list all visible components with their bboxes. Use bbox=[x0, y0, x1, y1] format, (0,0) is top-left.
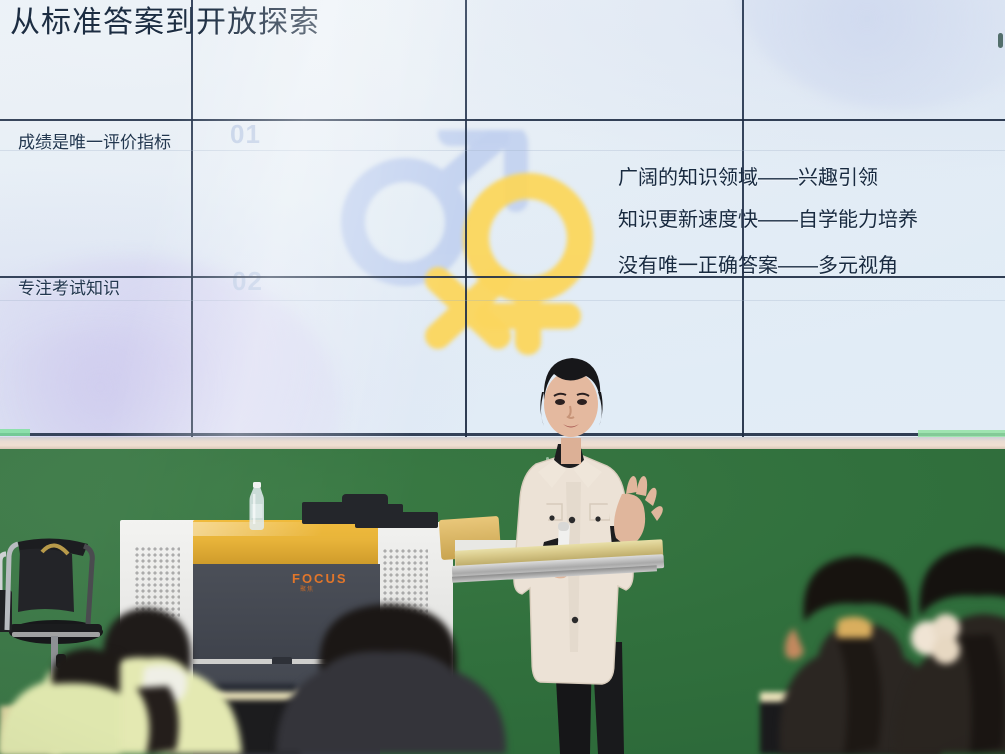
water-bottle bbox=[246, 482, 268, 530]
student-foreground-far-right bbox=[890, 540, 1005, 754]
student-foreground-center bbox=[270, 598, 510, 754]
video-wall-seam-v1 bbox=[191, 0, 193, 437]
podium-top-gloss bbox=[193, 522, 378, 536]
slide-right-line-1: 广阔的知识领域——兴趣引领 bbox=[618, 161, 878, 190]
video-wall-seam-h2b bbox=[0, 300, 1005, 301]
gender-symbols-watermark bbox=[330, 130, 630, 360]
video-wall-seam-h1b bbox=[0, 150, 1005, 151]
screen-indicator-dot bbox=[998, 33, 1003, 48]
student-hair-flower bbox=[911, 614, 960, 664]
video-wall-seam-h2 bbox=[0, 276, 1005, 278]
student-hair bbox=[919, 546, 1005, 616]
podium-brand-sublabel: 聚焦 bbox=[300, 584, 314, 593]
slide-title: 从标准答案到开放探索 bbox=[10, 6, 320, 39]
video-wall-seam-v2 bbox=[465, 0, 467, 437]
student-shoulders bbox=[276, 638, 506, 754]
teacher-eye-right bbox=[577, 399, 587, 405]
video-wall-seam-h1 bbox=[0, 119, 1005, 121]
student-foreground-far-left bbox=[0, 646, 120, 754]
equipment-case-c bbox=[392, 512, 438, 528]
slide-left-number-1: 01 bbox=[230, 119, 261, 150]
student-ear bbox=[785, 628, 804, 659]
green-accent-left bbox=[0, 429, 30, 436]
slide-right-line-3: 没有唯一正确答案——多元视角 bbox=[618, 249, 898, 278]
teacher-neck bbox=[561, 438, 581, 464]
classroom-photo: 从标准答案到开放探索 成绩是唯一评价指标 01 专注考试知识 02 广阔的知识领… bbox=[0, 0, 1005, 754]
slide-left-number-2: 02 bbox=[232, 266, 263, 297]
video-wall-seam-v3 bbox=[742, 0, 744, 437]
slide-right-line-2: 知识更新速度快——自学能力培养 bbox=[618, 203, 918, 232]
teacher-eye-left bbox=[555, 399, 565, 405]
